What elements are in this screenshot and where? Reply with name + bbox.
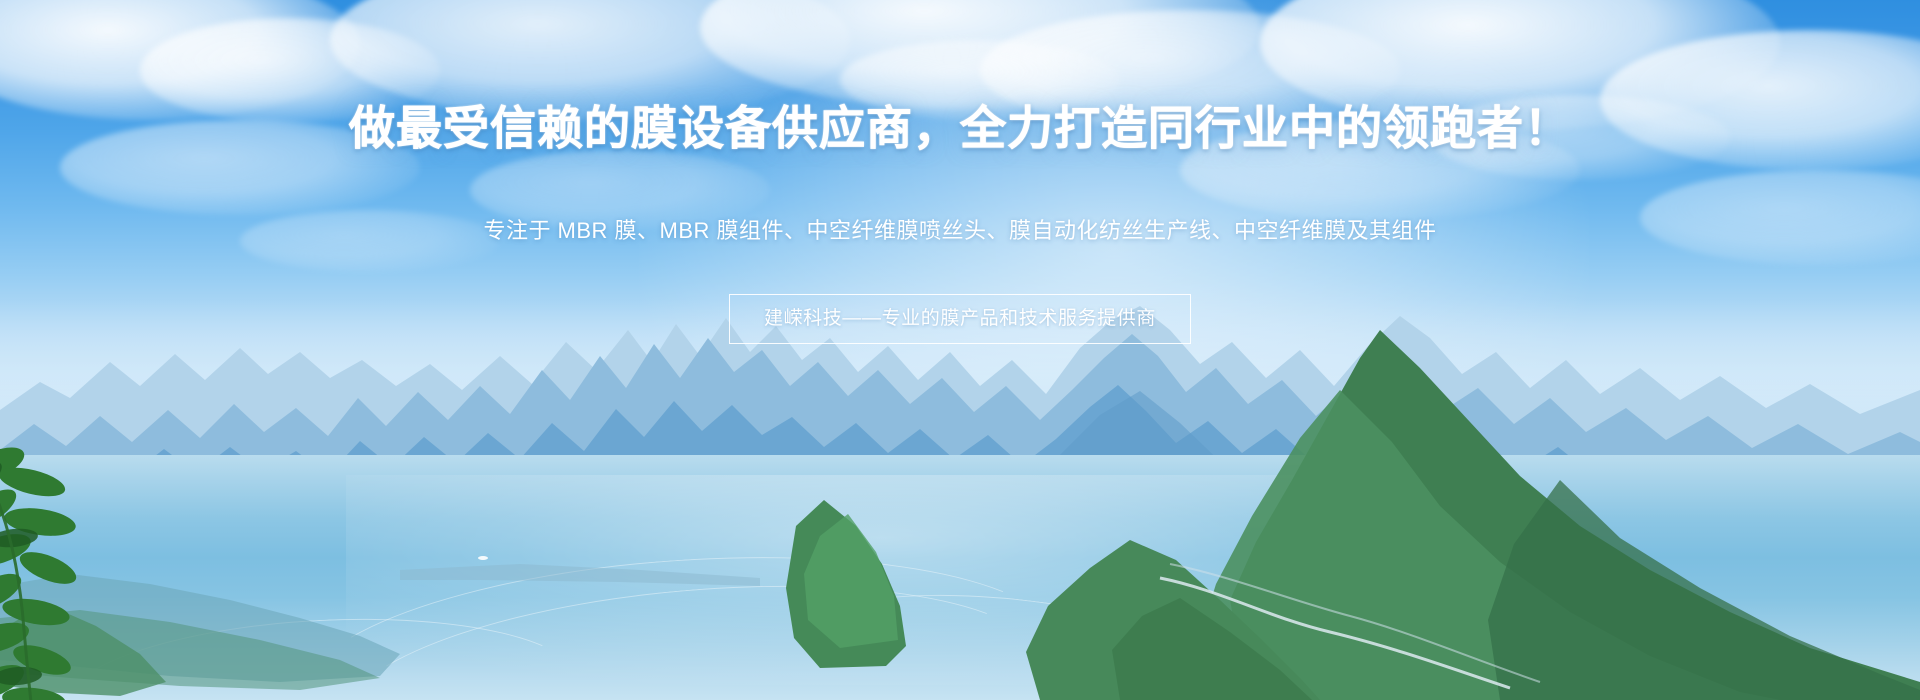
hero-tagline-container: 建嵘科技——专业的膜产品和技术服务提供商 (0, 294, 1920, 344)
hero-subheadline: 专注于 MBR 膜、MBR 膜组件、中空纤维膜喷丝头、膜自动化纺丝生产线、中空纤… (0, 215, 1920, 247)
foreground-foliage (0, 430, 150, 700)
hero-tagline-box: 建嵘科技——专业的膜产品和技术服务提供商 (729, 294, 1191, 344)
forested-hills (0, 330, 1920, 700)
hero-headline: 做最受信赖的膜设备供应商，全力打造同行业中的领跑者！ (0, 100, 1920, 156)
hero-banner: 做最受信赖的膜设备供应商，全力打造同行业中的领跑者！ 专注于 MBR 膜、MBR… (0, 0, 1920, 700)
